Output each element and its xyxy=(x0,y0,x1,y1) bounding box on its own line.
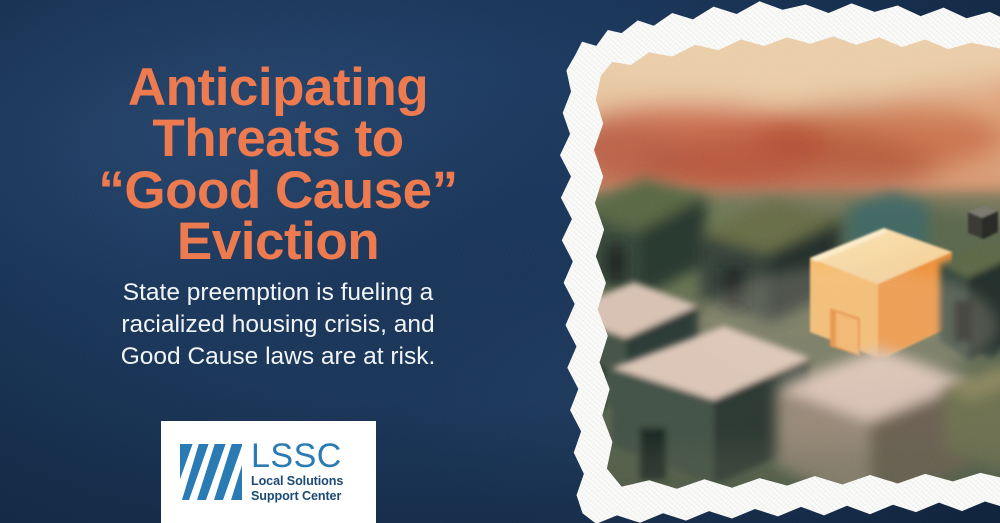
lssc-logo-card: LSSC Local Solutions Support Center xyxy=(161,421,376,523)
photo-film-grain xyxy=(548,0,1000,523)
torn-paper-photo-collage xyxy=(548,0,1000,523)
lssc-acronym: LSSC xyxy=(251,441,343,472)
subtitle: State preemption is fueling a racialized… xyxy=(24,277,532,373)
headline-line-3: “Good Cause” xyxy=(24,165,532,216)
lssc-logo: LSSC Local Solutions Support Center xyxy=(180,441,343,503)
headline-line-1: Anticipating xyxy=(24,62,532,113)
headline-line-4: Eviction xyxy=(24,216,532,267)
lssc-diagonal-slashes-mark-icon xyxy=(180,444,242,500)
lssc-tagline: Local Solutions Support Center xyxy=(251,474,343,502)
subtitle-line-1: State preemption is fueling a xyxy=(24,277,532,309)
subtitle-line-2: racialized housing crisis, and xyxy=(24,309,532,341)
page-title: Anticipating Threats to “Good Cause” Evi… xyxy=(24,62,532,268)
headline-line-2: Threats to xyxy=(24,113,532,164)
subtitle-line-3: Good Cause laws are at risk. xyxy=(24,341,532,373)
housing-model-photograph xyxy=(548,0,1000,523)
lssc-tagline-line-2: Support Center xyxy=(251,489,343,503)
social-graphic-canvas: Anticipating Threats to “Good Cause” Evi… xyxy=(0,0,1000,523)
lssc-tagline-line-1: Local Solutions xyxy=(251,474,343,488)
text-column: Anticipating Threats to “Good Cause” Evi… xyxy=(0,0,556,523)
lssc-wordmark: LSSC Local Solutions Support Center xyxy=(251,441,343,503)
